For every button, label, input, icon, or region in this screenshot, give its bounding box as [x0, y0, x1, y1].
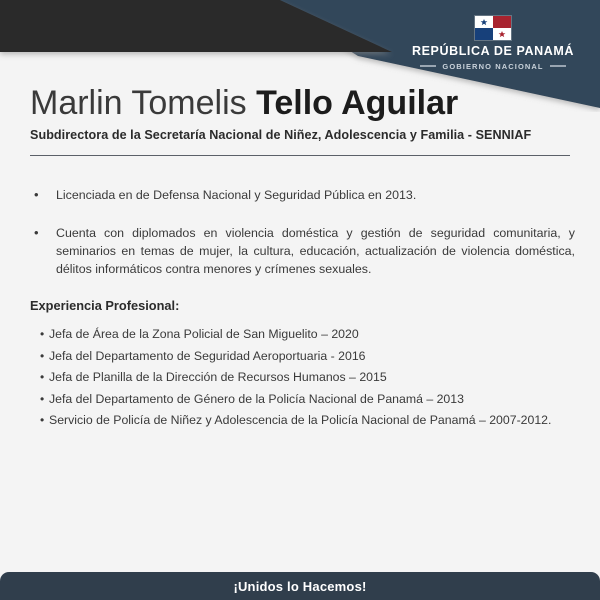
footer-bar: ¡Unidos lo Hacemos! — [0, 572, 600, 600]
given-name: Marlin Tomelis — [30, 84, 256, 122]
header-divider — [30, 155, 570, 156]
experience-text: Jefa del Departamento de Seguridad Aerop… — [49, 347, 575, 366]
list-item: • Jefa de Planilla de la Dirección de Re… — [30, 368, 575, 387]
section-heading-experience: Experiencia Profesional: — [30, 298, 575, 313]
bullet-icon: • — [30, 347, 49, 366]
experience-text: Jefa de Área de la Zona Policial de San … — [49, 325, 575, 344]
profile-card: REPÚBLICA DE PANAMÁ GOBIERNO NACIONAL Ma… — [0, 0, 600, 600]
bullet-icon: • — [30, 186, 56, 204]
page-title: Marlin Tomelis Tello Aguilar — [30, 82, 575, 124]
experience-text: Servicio de Policía de Niñez y Adolescen… — [49, 411, 575, 430]
list-item: • Jefa del Departamento de Seguridad Aer… — [30, 347, 575, 366]
list-item: • Servicio de Policía de Niñez y Adolesc… — [30, 411, 575, 430]
experience-list: • Jefa de Área de la Zona Policial de Sa… — [30, 325, 575, 430]
title-block: Marlin Tomelis Tello Aguilar Subdirector… — [30, 82, 575, 142]
qualification-text-1: Licenciada en de Defensa Nacional y Segu… — [56, 186, 575, 204]
list-item: • Cuenta con diplomados en violencia dom… — [30, 224, 575, 278]
body-content: • Licenciada en de Defensa Nacional y Se… — [30, 186, 575, 433]
bullet-icon: • — [30, 390, 49, 409]
list-item: • Jefa del Departamento de Género de la … — [30, 390, 575, 409]
list-item: • Jefa de Área de la Zona Policial de Sa… — [30, 325, 575, 344]
bullet-icon: • — [30, 325, 49, 344]
bullet-icon: • — [30, 368, 49, 387]
job-title: Subdirectora de la Secretaría Nacional d… — [30, 128, 575, 142]
qualification-text-2: Cuenta con diplomados en violencia domés… — [56, 224, 575, 278]
bullet-icon: • — [30, 411, 49, 430]
experience-text: Jefa del Departamento de Género de la Po… — [49, 390, 575, 409]
bullet-icon: • — [30, 224, 56, 242]
footer-slogan: ¡Unidos lo Hacemos! — [233, 579, 366, 594]
family-name: Tello Aguilar — [256, 84, 458, 122]
experience-text: Jefa de Planilla de la Dirección de Recu… — [49, 368, 575, 387]
list-item: • Licenciada en de Defensa Nacional y Se… — [30, 186, 575, 204]
